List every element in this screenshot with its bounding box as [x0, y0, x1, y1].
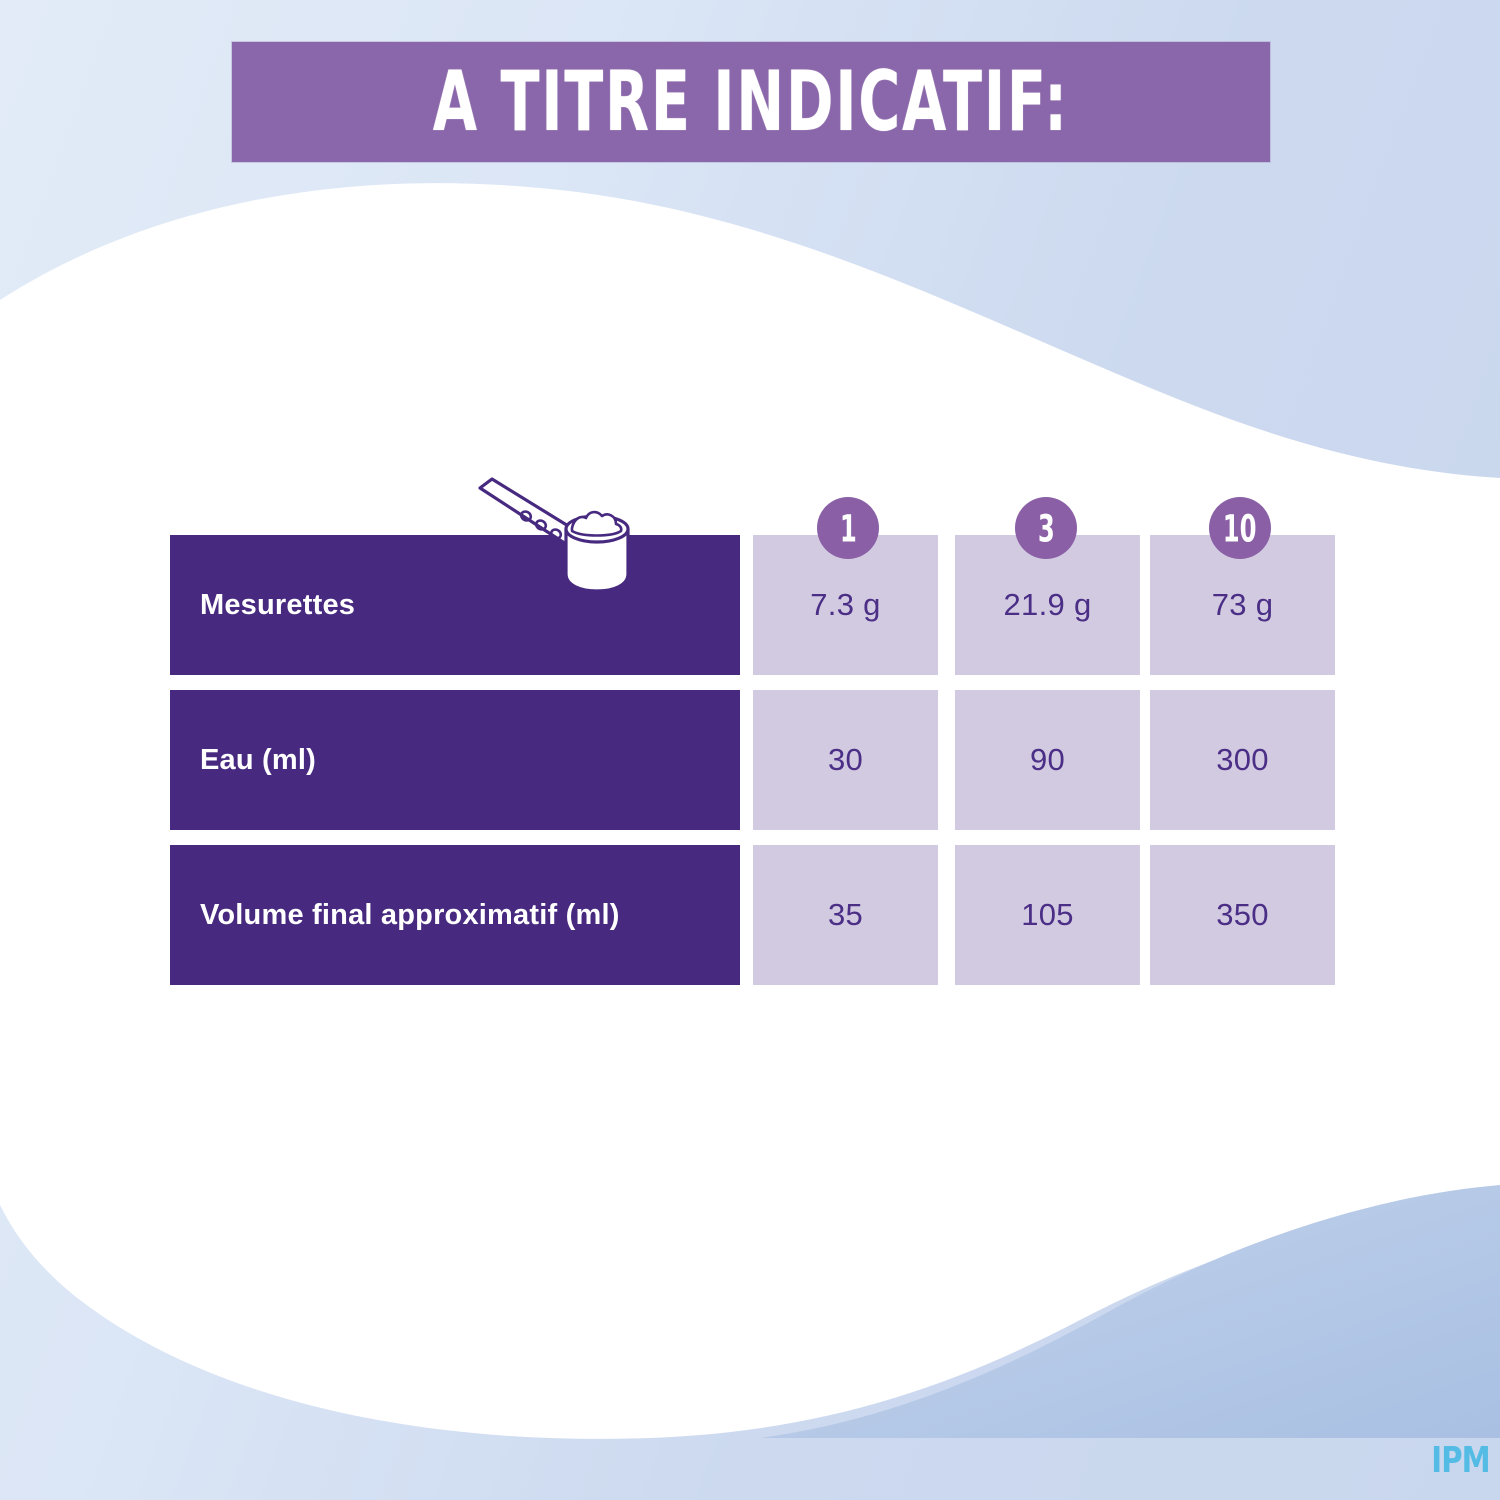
- table-cell: 300: [1150, 690, 1335, 830]
- title-banner: A TITRE INDICATIF:: [232, 42, 1270, 162]
- cell-value: 90: [1030, 742, 1065, 778]
- row-label: Volume final approximatif (ml): [170, 899, 620, 932]
- column-badge-label: 10: [1223, 509, 1257, 547]
- cell-value: 105: [1021, 897, 1074, 933]
- brand-logo: IPM: [1428, 1443, 1484, 1483]
- table-cell: 35: [753, 845, 938, 985]
- cell-value: 30: [828, 742, 863, 778]
- table-cell: 105: [955, 845, 1140, 985]
- cell-value: 73 g: [1212, 587, 1274, 623]
- cell-value: 35: [828, 897, 863, 933]
- table-row: Volume final approximatif (ml) 35 105 35…: [170, 845, 1335, 985]
- row-label: Mesurettes: [170, 589, 355, 622]
- column-badge-label: 1: [840, 509, 857, 547]
- row-label-cell: Volume final approximatif (ml): [170, 845, 740, 985]
- measuring-scoop-icon: [466, 474, 656, 592]
- table-cell: 350: [1150, 845, 1335, 985]
- cell-value: 350: [1216, 897, 1269, 933]
- logo-text: IPM: [1431, 1443, 1490, 1479]
- column-badge-label: 3: [1038, 509, 1055, 547]
- row-label-cell: Eau (ml): [170, 690, 740, 830]
- column-badge-10: 10: [1209, 497, 1271, 559]
- dosage-table: Mesurettes 7.3 g 21.9 g 73 g Eau (ml) 30…: [170, 535, 1335, 987]
- cell-value: 21.9 g: [1004, 587, 1092, 623]
- table-cell: 90: [955, 690, 1140, 830]
- page-title: A TITRE INDICATIF:: [433, 61, 1069, 144]
- table-cell: 30: [753, 690, 938, 830]
- infographic-canvas: A TITRE INDICATIF: 1 3 10: [0, 0, 1500, 1500]
- cell-value: 300: [1216, 742, 1269, 778]
- row-label: Eau (ml): [170, 744, 316, 777]
- table-row: Eau (ml) 30 90 300: [170, 690, 1335, 830]
- column-badge-1: 1: [817, 497, 879, 559]
- cell-value: 7.3 g: [810, 587, 880, 623]
- column-badge-3: 3: [1015, 497, 1077, 559]
- table-row: Mesurettes 7.3 g 21.9 g 73 g: [170, 535, 1335, 675]
